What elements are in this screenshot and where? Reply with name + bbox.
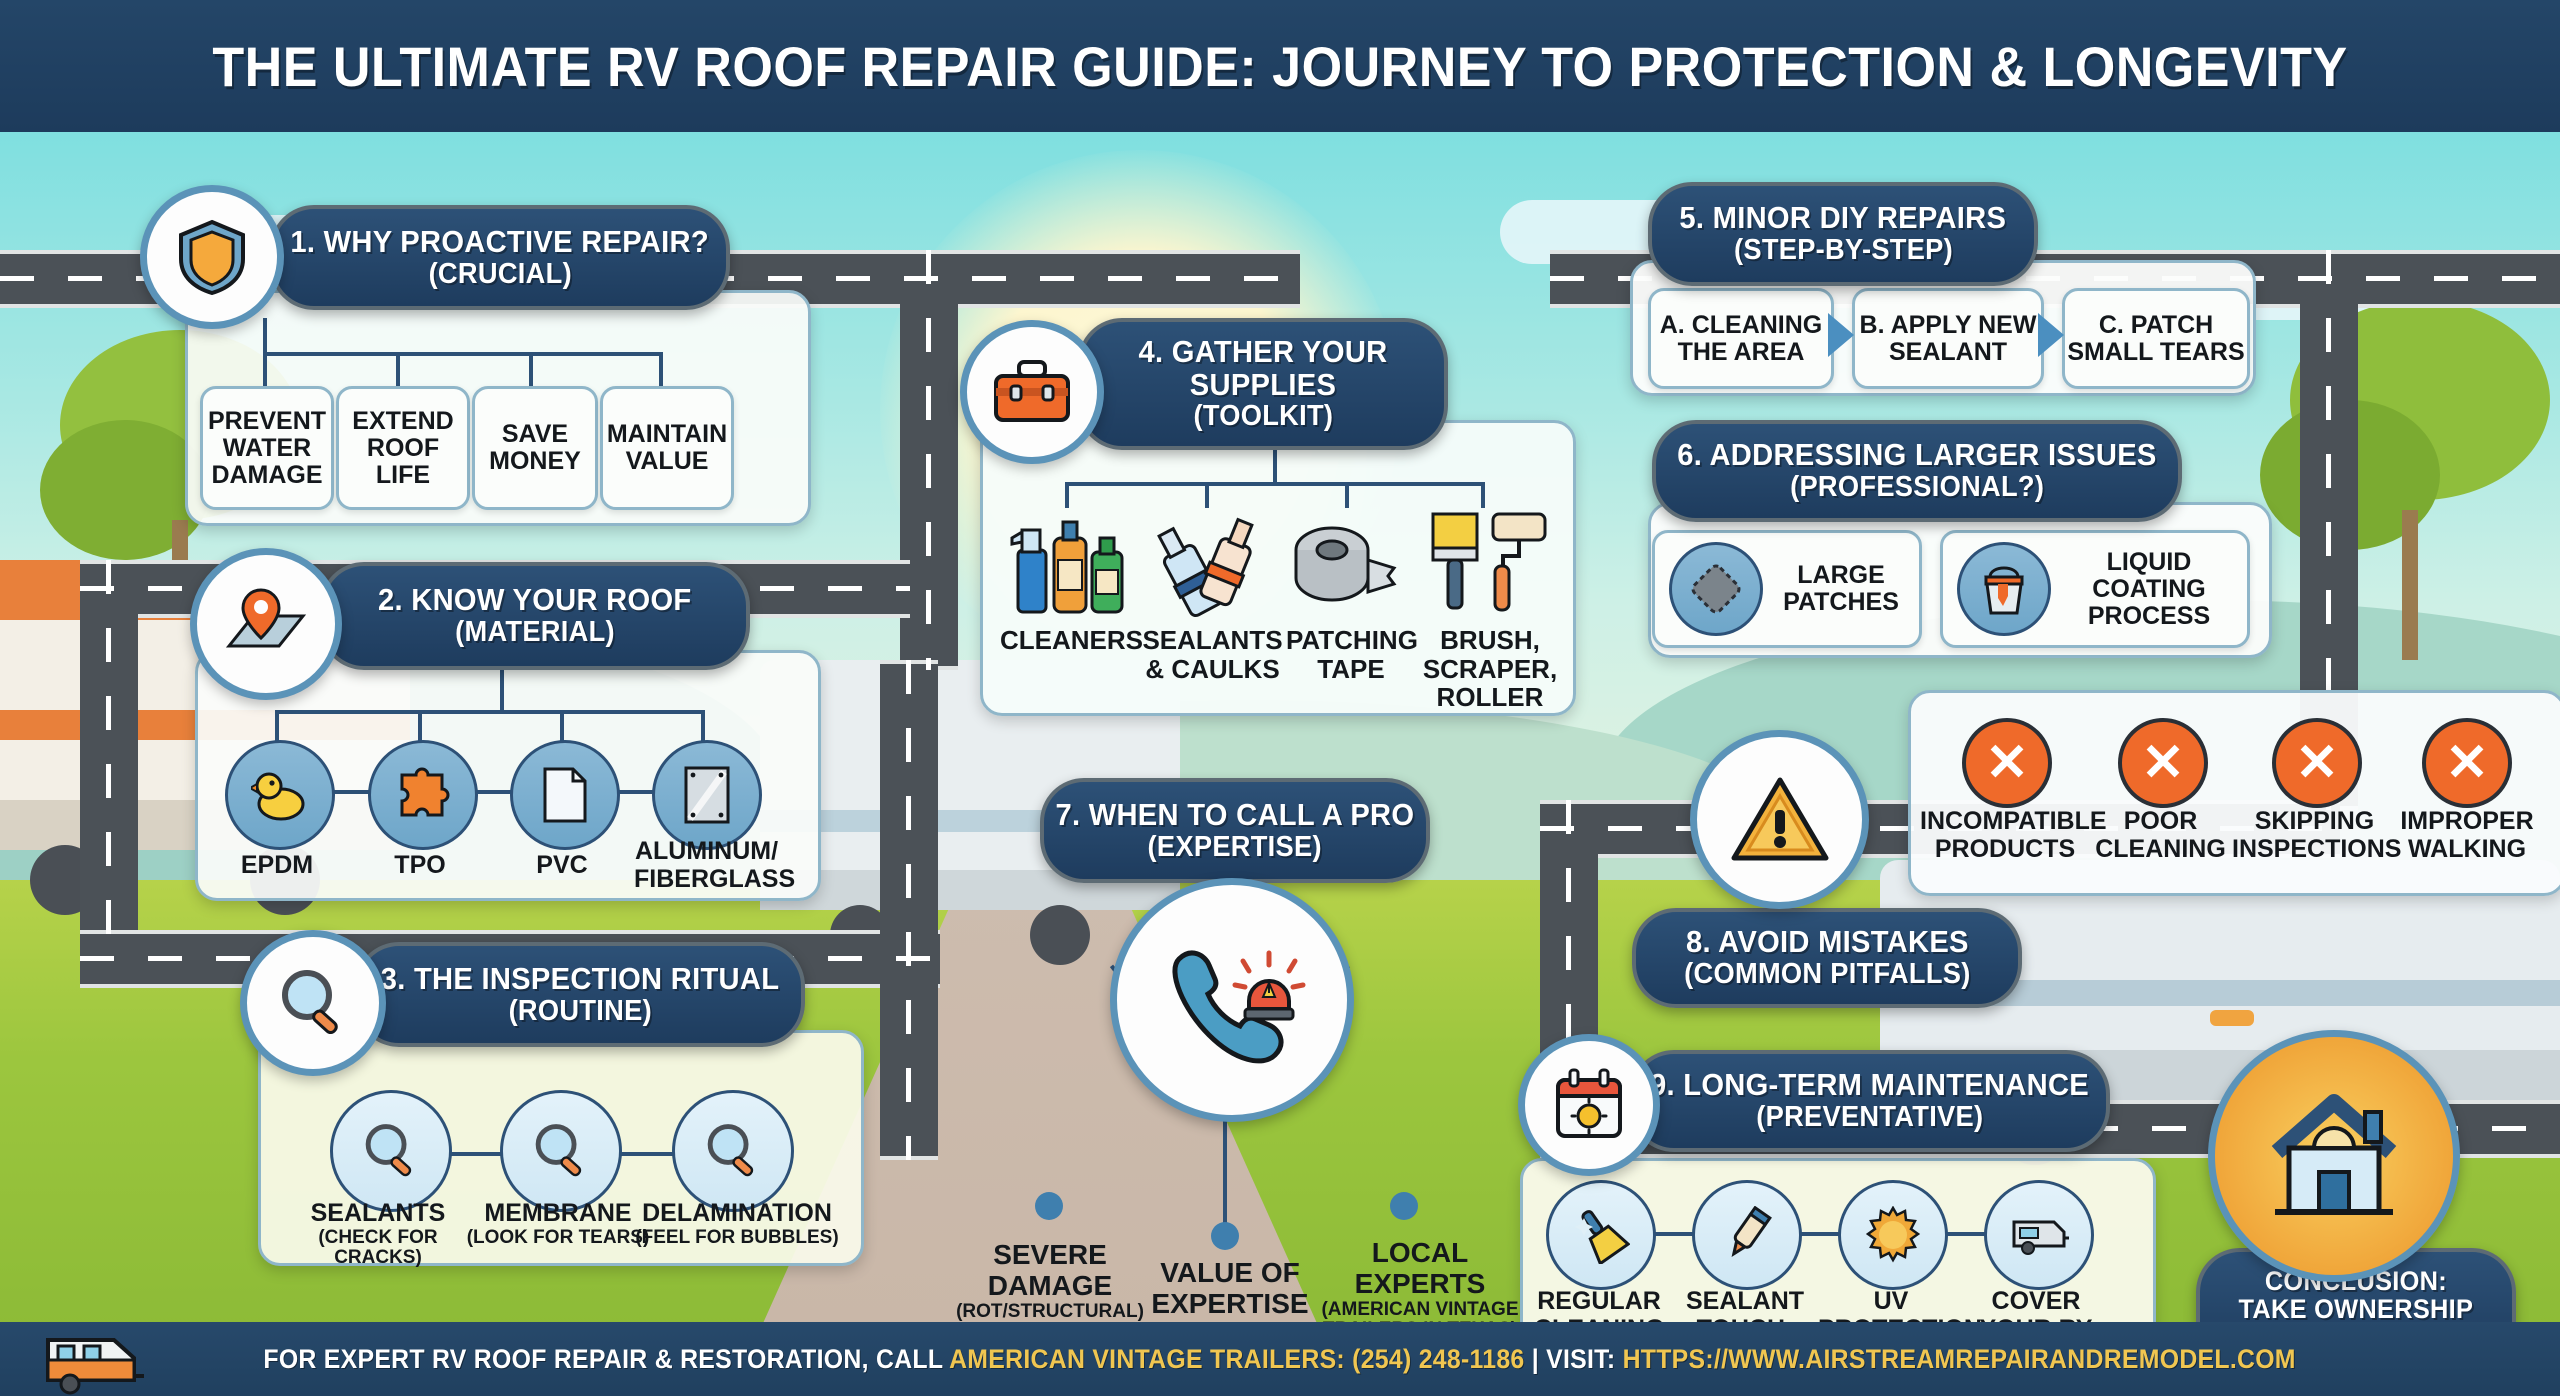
section-6-header[interactable]: 6. ADDRESSING LARGER ISSUES (PROFESSIONA…: [1652, 420, 2182, 522]
section-2-item-label: PVC: [497, 852, 627, 880]
section-2-icon-pvc[interactable]: [510, 740, 620, 850]
connector: [1620, 1232, 2040, 1236]
connector: [263, 352, 663, 356]
calendar-sun-icon: [1518, 1034, 1660, 1176]
item-label: SAVE MONEY: [475, 421, 595, 475]
section-3-icon-0[interactable]: [330, 1090, 452, 1212]
section-5-step[interactable]: A. CLEANING THE AREA: [1648, 288, 1834, 389]
section-5-step[interactable]: C. PATCH SMALL TEARS: [2062, 288, 2250, 389]
section-8-item-label: INCOMPATIBLE PRODUCTS: [1920, 808, 2090, 863]
house-icon: [2208, 1030, 2460, 1282]
section-3-item-label: DELAMINATION (FEEL FOR BUBBLES): [634, 1200, 840, 1248]
road-dashes: [926, 250, 931, 670]
step-arrow-icon: [1828, 313, 1854, 357]
label-sub: (CHECK FOR CRACKS): [278, 1228, 478, 1270]
x-circle-icon: ✕: [2272, 718, 2362, 808]
page-header: THE ULTIMATE RV ROOF REPAIR GUIDE: JOURN…: [0, 0, 2560, 132]
section-4-item-label: BRUSH, SCRAPER, ROLLER: [1420, 626, 1560, 712]
footer-prefix: FOR EXPERT RV ROOF REPAIR & RESTORATION,…: [264, 1344, 950, 1374]
road-dashes: [700, 276, 1300, 281]
label-sub: (LOOK FOR TEARS): [458, 1228, 658, 1249]
connector: [1065, 482, 1485, 486]
infographic-canvas: 1. WHY PROACTIVE REPAIR? (CRUCIAL) PREVE…: [0, 0, 2560, 1396]
section-7-title: 7. WHEN TO CALL A PRO: [1056, 799, 1415, 832]
label-sub: (ROT/STRUCTURAL): [955, 1302, 1145, 1323]
connector: [701, 710, 705, 742]
connector: [263, 318, 267, 354]
tape-roll-icon: [1290, 510, 1408, 620]
section-2-item-label: ALUMINUM/ FIBERGLASS: [634, 838, 779, 893]
label-text: EPDM: [241, 851, 313, 879]
section-7-item-label: SEVERE DAMAGE (ROT/STRUCTURAL): [955, 1240, 1145, 1322]
connector-node: [1390, 1192, 1418, 1220]
x-circle-icon: ✕: [2118, 718, 2208, 808]
patch-icon: [1669, 542, 1763, 636]
label-sub: (FEEL FOR BUBBLES): [634, 1228, 840, 1249]
section-5-step[interactable]: B. APPLY NEW SEALANT: [1852, 288, 2044, 389]
connector: [500, 670, 504, 712]
toolbox-icon: [960, 320, 1104, 464]
connector-node: [1035, 1192, 1063, 1220]
x-circle-icon: ✕: [2422, 718, 2512, 808]
section-8-title: 8. AVOID MISTAKES: [1686, 926, 1969, 959]
section-1-title: 1. WHY PROACTIVE REPAIR?: [291, 226, 710, 259]
page-title: THE ULTIMATE RV ROOF REPAIR GUIDE: JOURN…: [212, 34, 2347, 99]
connector: [560, 710, 564, 742]
section-3-icon-2[interactable]: [672, 1090, 794, 1212]
label-text: BRUSH, SCRAPER, ROLLER: [1423, 625, 1557, 712]
section-5-header[interactable]: 5. MINOR DIY REPAIRS (STEP-BY-STEP): [1648, 182, 2038, 286]
item-label: EXTEND ROOF LIFE: [339, 408, 467, 489]
step-label: B. APPLY NEW SEALANT: [1855, 312, 2041, 366]
connector: [275, 710, 705, 714]
section-4-item-label: SEALANTS & CAULKS: [1140, 626, 1285, 683]
section-6-subtitle: (PROFESSIONAL?): [1790, 472, 2044, 503]
road-dashes: [906, 660, 911, 1160]
section-3-header[interactable]: 3. THE INSPECTION RITUAL (ROUTINE): [355, 942, 805, 1047]
label-text: TPO: [394, 851, 445, 879]
label-text: MEMBRANE: [484, 1199, 631, 1227]
label-text: PATCHING TAPE: [1286, 625, 1418, 684]
section-4-item-label: PATCHING TAPE: [1286, 626, 1416, 683]
label-text: DELAMINATION: [642, 1199, 832, 1227]
section-1-item[interactable]: SAVE MONEY: [472, 386, 598, 510]
section-6-item[interactable]: LARGE PATCHES: [1652, 530, 1922, 648]
sun-icon[interactable]: [1838, 1180, 1948, 1290]
connector: [1205, 482, 1209, 508]
phone-siren-icon: [1110, 878, 1354, 1122]
label-text: SKIPPING INSPECTIONS: [2232, 807, 2401, 863]
section-7-item-label: VALUE OF EXPERTISE: [1140, 1258, 1320, 1320]
label-text: LOCAL EXPERTS: [1355, 1237, 1486, 1299]
section-2-icon-epdm[interactable]: [225, 740, 335, 850]
footer-url[interactable]: HTTPS://WWW.AIRSTREAMREPAIRANDREMODEL.CO…: [1623, 1344, 2296, 1374]
connector: [1345, 482, 1349, 508]
section-6-item[interactable]: LIQUID COATING PROCESS: [1940, 530, 2250, 648]
label-text: INCOMPATIBLE PRODUCTS: [1920, 807, 2107, 863]
step-label: C. PATCH SMALL TEARS: [2065, 312, 2247, 366]
section-7-subtitle: (EXPERTISE): [1148, 832, 1322, 863]
section-2-icon-tpo[interactable]: [368, 740, 478, 850]
section-4-title: 4. GATHER YOUR SUPPLIES: [1121, 336, 1405, 402]
footer-separator: | VISIT:: [1525, 1344, 1623, 1374]
step-arrow-icon: [2038, 313, 2064, 357]
section-2-subtitle: (MATERIAL): [455, 617, 615, 648]
conclusion-title-2: TAKE OWNERSHIP: [2239, 1295, 2474, 1324]
section-8-item-label: IMPROPER WALKING: [2392, 808, 2542, 863]
label-text: VALUE OF EXPERTISE: [1151, 1257, 1308, 1319]
label-text: PVC: [536, 851, 587, 879]
section-2-icon-aluminum[interactable]: [652, 740, 762, 850]
connector: [396, 352, 400, 386]
item-label: LIQUID COATING PROCESS: [2051, 549, 2247, 630]
connector: [418, 710, 422, 742]
x-circle-icon: ✕: [1962, 718, 2052, 808]
section-9-subtitle: (PREVENTATIVE): [1756, 1102, 1983, 1133]
item-label: PREVENT WATER DAMAGE: [203, 408, 331, 489]
page-footer: FOR EXPERT RV ROOF REPAIR & RESTORATION,…: [0, 1322, 2560, 1396]
shield-icon: [140, 185, 284, 329]
label-text: ALUMINUM/ FIBERGLASS: [634, 837, 795, 893]
broom-sparkle-icon[interactable]: [1546, 1180, 1656, 1290]
section-2-item-label: TPO: [355, 852, 485, 880]
paint-bucket-icon: [1957, 542, 2051, 636]
connector: [263, 352, 267, 386]
label-text: POOR CLEANING: [2095, 807, 2226, 863]
section-8-header[interactable]: 8. AVOID MISTAKES (COMMON PITFALLS): [1632, 908, 2022, 1008]
connector: [275, 710, 279, 742]
section-1-item[interactable]: EXTEND ROOF LIFE: [336, 386, 470, 510]
section-1-item[interactable]: PREVENT WATER DAMAGE: [200, 386, 334, 510]
item-label: LARGE PATCHES: [1763, 562, 1919, 616]
section-3-title: 3. THE INSPECTION RITUAL: [381, 963, 780, 996]
section-6-title: 6. ADDRESSING LARGER ISSUES: [1677, 439, 2156, 472]
section-8-item-label: SKIPPING INSPECTIONS: [2232, 808, 2397, 863]
section-8-subtitle: (COMMON PITFALLS): [1684, 959, 1970, 990]
section-2-header[interactable]: 2. KNOW YOUR ROOF (MATERIAL): [320, 562, 750, 670]
section-5-title: 5. MINOR DIY REPAIRS: [1680, 202, 2007, 235]
section-7-header[interactable]: 7. WHEN TO CALL A PRO (EXPERTISE): [1040, 778, 1430, 883]
footer-trailer-icon: [40, 1318, 150, 1396]
section-2-item-label: EPDM: [212, 852, 342, 880]
connector-node: [1211, 1222, 1239, 1250]
section-1-subtitle: (CRUCIAL): [428, 259, 571, 290]
connector: [529, 352, 533, 386]
section-1-header[interactable]: 1. WHY PROACTIVE REPAIR? (CRUCIAL): [270, 205, 730, 310]
item-label: MAINTAIN VALUE: [603, 421, 731, 475]
section-4-header[interactable]: 4. GATHER YOUR SUPPLIES (TOOLKIT): [1078, 318, 1448, 450]
map-pin-icon: [190, 548, 342, 700]
section-3-item-label: MEMBRANE (LOOK FOR TEARS): [458, 1200, 658, 1248]
section-9-title: 9. LONG-TERM MAINTENANCE: [1650, 1069, 2089, 1102]
caulk-gun-icon: [1150, 510, 1268, 620]
section-4-item-label: CLEANERS: [1000, 626, 1140, 655]
section-8-item-label: POOR CLEANING: [2088, 808, 2233, 863]
caulk-tube-icon[interactable]: [1692, 1180, 1802, 1290]
warning-triangle-icon: [1690, 730, 1869, 909]
trailer-icon[interactable]: [1984, 1180, 2094, 1290]
section-9-header[interactable]: 9. LONG-TERM MAINTENANCE (PREVENTATIVE): [1630, 1050, 2110, 1152]
label-text: SEVERE DAMAGE: [988, 1239, 1112, 1301]
brush-roller-icon: [1425, 500, 1553, 620]
label-text: SEALANTS & CAULKS: [1142, 625, 1282, 684]
label-text: IMPROPER WALKING: [2400, 807, 2533, 863]
connector: [1065, 482, 1069, 508]
section-3-item-label: SEALANTS (CHECK FOR CRACKS): [278, 1200, 478, 1269]
connector: [659, 352, 663, 386]
footer-company: AMERICAN VINTAGE TRAILERS: (254) 248-118…: [950, 1344, 1525, 1374]
spray-bottles-icon: [1010, 510, 1128, 620]
step-label: A. CLEANING THE AREA: [1651, 312, 1831, 366]
connector: [275, 790, 705, 794]
section-4-subtitle: (TOOLKIT): [1193, 401, 1333, 432]
label-text: CLEANERS: [1000, 625, 1143, 655]
section-1-item[interactable]: MAINTAIN VALUE: [600, 386, 734, 510]
section-3-subtitle: (ROUTINE): [508, 996, 651, 1027]
label-text: SEALANTS: [311, 1199, 446, 1227]
road-dashes: [106, 560, 111, 960]
section-2-title: 2. KNOW YOUR ROOF: [378, 584, 691, 617]
section-5-subtitle: (STEP-BY-STEP): [1733, 235, 1952, 266]
footer-text: FOR EXPERT RV ROOF REPAIR & RESTORATION,…: [264, 1344, 2296, 1375]
connector: [1273, 448, 1277, 482]
section-3-icon-1[interactable]: [500, 1090, 622, 1212]
magnifier-icon: [240, 930, 386, 1076]
